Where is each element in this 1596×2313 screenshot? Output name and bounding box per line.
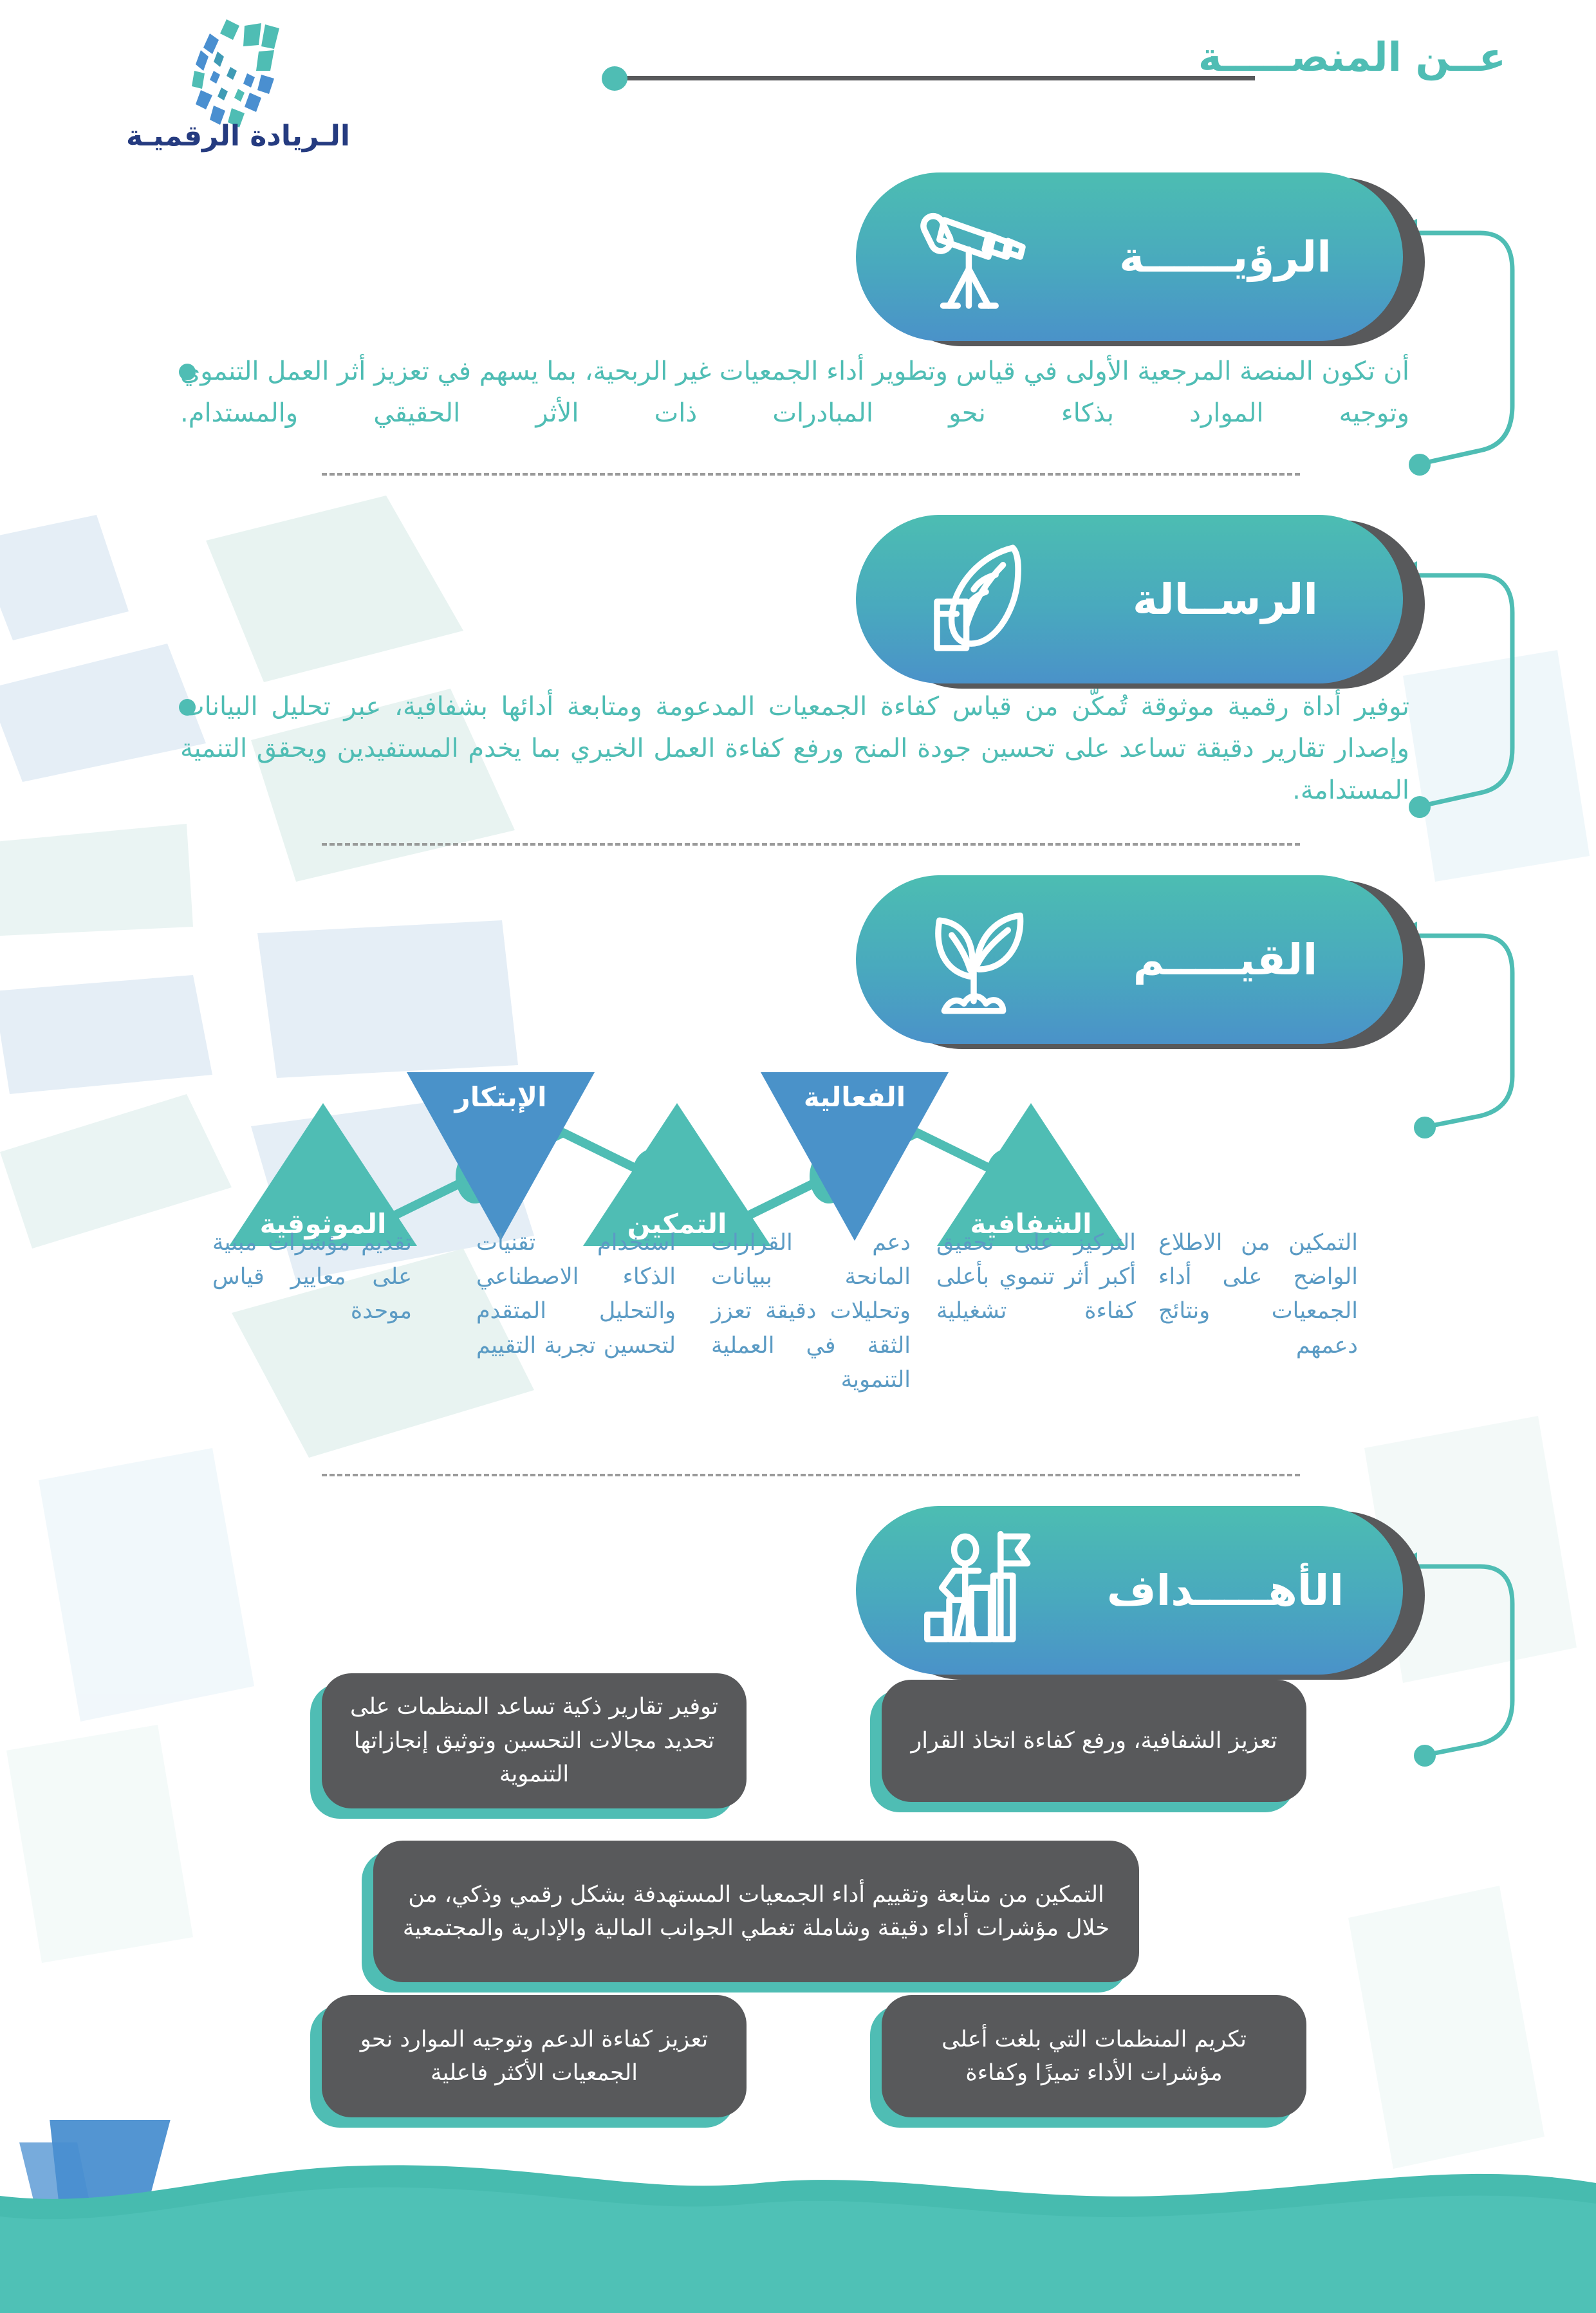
goal-card-body: التمكين من متابعة وتقييم أداء الجمعيات ا… xyxy=(373,1841,1139,1982)
goal-text-2: تعزيز الشفافية، ورفع كفاءة اتخاذ القرار xyxy=(885,1714,1303,1769)
infographic-page: الـريادة الرقميـة عــن المنصـــــة الرؤي… xyxy=(0,0,1596,2313)
goal-text-4: تعزيز كفاءة الدعم وتوجيه الموارد نحو الج… xyxy=(322,2012,747,2101)
value-desc-transparency: التمكين من الاطلاع الواضح على أداء الجمع… xyxy=(1158,1226,1358,1363)
divider-3 xyxy=(322,1474,1300,1476)
section-header-values[interactable]: القيـــــم xyxy=(856,875,1403,1049)
goal-text-1: توفير تقارير ذكية تساعد المنظمات على تحد… xyxy=(322,1680,747,1802)
value-triangle-effectiveness[interactable]: الفعالية xyxy=(758,1070,951,1243)
goal-card-3[interactable]: التمكين من متابعة وتقييم أداء الجمعيات ا… xyxy=(373,1841,1139,1982)
value-name-effectiveness: الفعالية xyxy=(758,1081,951,1113)
header-divider-rule xyxy=(611,76,1255,80)
capsule-body: الأهـــــداف xyxy=(856,1506,1403,1675)
divider-2 xyxy=(322,843,1300,846)
capsule-body: الرؤيــــــة xyxy=(856,172,1403,341)
goal-card-body: تكريم المنظمات التي بلغت أعلى مؤشرات الأ… xyxy=(882,1995,1306,2117)
goal-card-5[interactable]: تكريم المنظمات التي بلغت أعلى مؤشرات الأ… xyxy=(882,1995,1306,2117)
capsule-body: القيـــــم xyxy=(856,875,1403,1044)
value-desc-empowerment: دعم القرارات المانحة ببيانات وتحليلات دق… xyxy=(711,1226,911,1397)
value-desc-innovation: استخدام تقنيات الذكاء الاصطناعي والتحليل… xyxy=(476,1226,676,1363)
sprout-plant-icon xyxy=(893,895,1054,1024)
section-label-values: القيـــــم xyxy=(1054,935,1403,985)
section-label-vision: الرؤيــــــة xyxy=(1054,232,1403,282)
footer-wave xyxy=(0,2120,1596,2313)
value-name-innovation: الإبتكار xyxy=(404,1081,597,1113)
person-flag-bars-icon xyxy=(893,1526,1054,1655)
goal-card-body: تعزيز الشفافية، ورفع كفاءة اتخاذ القرار xyxy=(882,1680,1306,1802)
value-triangle-innovation[interactable]: الإبتكار xyxy=(404,1070,597,1243)
section-header-goals[interactable]: الأهـــــداف xyxy=(856,1506,1403,1680)
telescope-icon xyxy=(893,192,1054,321)
brand-logo: الـريادة الرقميـة xyxy=(103,12,373,172)
divider-1 xyxy=(322,473,1300,476)
goal-card-4[interactable]: تعزيز كفاءة الدعم وتوجيه الموارد نحو الج… xyxy=(322,1995,747,2117)
goal-card-2[interactable]: تعزيز الشفافية، ورفع كفاءة اتخاذ القرار xyxy=(882,1680,1306,1802)
capsule-body: الرســالة xyxy=(856,515,1403,683)
section-label-mission: الرســالة xyxy=(1054,575,1403,624)
vision-body-text: أن تكون المنصة المرجعية الأولى في قياس و… xyxy=(180,351,1409,434)
section-header-mission[interactable]: الرســالة xyxy=(856,515,1403,689)
page-title: عــن المنصـــــة xyxy=(1198,33,1506,80)
brand-logo-text: الـريادة الرقميـة xyxy=(103,120,373,153)
section-label-goals: الأهـــــداف xyxy=(1054,1566,1403,1615)
value-desc-effectiveness: التركيز على تحقيق أكبر أثر تنموي بأعلى ك… xyxy=(936,1226,1136,1329)
digital-mosaic-logo-icon xyxy=(103,12,373,127)
value-desc-reliability: تقديم مؤشرات مبنية على معايير قياس موحدة xyxy=(212,1226,412,1329)
goal-card-body: تعزيز كفاءة الدعم وتوجيه الموارد نحو الج… xyxy=(322,1995,747,2117)
header-divider-dot xyxy=(602,66,627,91)
mission-bullet xyxy=(179,699,196,716)
goal-card-body: توفير تقارير ذكية تساعد المنظمات على تحد… xyxy=(322,1673,747,1808)
goal-text-5: تكريم المنظمات التي بلغت أعلى مؤشرات الأ… xyxy=(882,2012,1306,2101)
section-header-vision[interactable]: الرؤيــــــة xyxy=(856,172,1403,346)
goal-text-3: التمكين من متابعة وتقييم أداء الجمعيات ا… xyxy=(373,1868,1139,1956)
feather-quill-icon xyxy=(893,535,1054,664)
goal-card-1[interactable]: توفير تقارير ذكية تساعد المنظمات على تحد… xyxy=(322,1673,747,1808)
vision-bullet xyxy=(179,364,196,380)
mission-body-text: توفير أداة رقمية موثوقة تُمكّن من قياس ك… xyxy=(180,686,1409,811)
